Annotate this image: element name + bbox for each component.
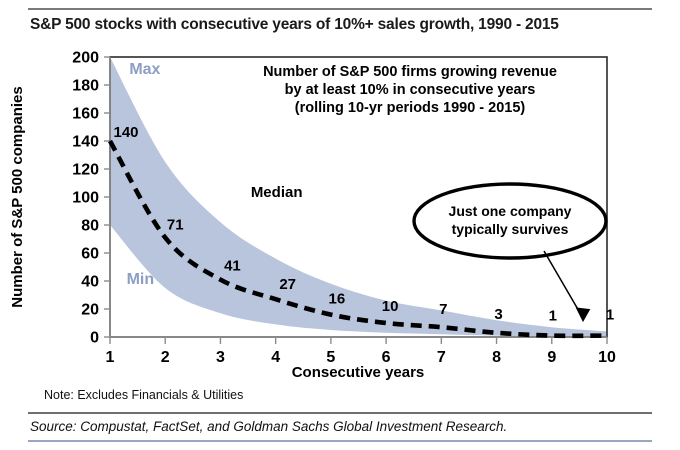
series-inplot-label-max: Max: [129, 61, 160, 78]
chart-page: S&P 500 stocks with consecutive years of…: [0, 0, 680, 450]
x-axis-tick-label: 1: [106, 349, 115, 366]
median-value-label: 10: [382, 298, 399, 315]
y-axis-tick-label: 200: [72, 50, 99, 67]
x-axis-title: Consecutive years: [292, 364, 425, 381]
x-axis-tick-label: 3: [216, 349, 225, 366]
x-axis-tick-label: 2: [161, 349, 170, 366]
median-value-label: 71: [167, 217, 184, 234]
median-value-label: 7: [439, 301, 447, 318]
y-axis-tick-label: 160: [72, 106, 99, 123]
annotation-line-2: by at least 10% in consecutive years: [285, 82, 536, 98]
callout-line-2: typically survives: [452, 221, 569, 237]
chart-note: Note: Excludes Financials & Utilities: [44, 388, 243, 402]
median-value-label: 27: [279, 276, 296, 293]
x-axis-tick-label: 8: [492, 349, 501, 366]
y-axis-tick-label: 60: [81, 246, 99, 263]
x-axis-tick-label: 7: [437, 349, 446, 366]
y-axis-tick-label: 40: [81, 274, 99, 291]
y-axis-tick-label: 20: [81, 302, 99, 319]
source-divider-bottom: [28, 440, 652, 442]
series-inplot-label-median: Median: [251, 184, 303, 201]
y-axis-tick-label: 0: [90, 330, 99, 347]
median-value-label: 3: [494, 306, 502, 323]
annotation-line-3: (rolling 10-yr periods 1990 - 2015): [295, 100, 526, 116]
x-axis-tick-label: 10: [598, 349, 616, 366]
y-axis-tick-label: 180: [72, 78, 99, 95]
callout-line-1: Just one company: [449, 203, 572, 219]
header-divider: [28, 8, 652, 10]
median-value-label: 140: [113, 124, 138, 141]
x-axis-tick-label: 9: [547, 349, 556, 366]
y-axis-tick-label: 100: [72, 190, 99, 207]
y-axis-title: Number of S&P 500 companies: [9, 86, 26, 307]
y-axis-tick-label: 140: [72, 134, 99, 151]
page-title: S&P 500 stocks with consecutive years of…: [30, 16, 660, 34]
chart-source: Source: Compustat, FactSet, and Goldman …: [30, 419, 507, 434]
sales-growth-chart: 020406080100120140160180200 12345678910 …: [0, 40, 680, 385]
y-axis: 020406080100120140160180200: [72, 50, 110, 347]
annotation-line-1: Number of S&P 500 firms growing revenue: [263, 64, 557, 80]
y-axis-tick-label: 80: [81, 218, 99, 235]
x-axis: 12345678910: [106, 337, 616, 366]
median-value-label: 1: [606, 307, 614, 324]
chart-annotation-block: Number of S&P 500 firms growing revenue …: [263, 64, 557, 116]
x-axis-tick-label: 4: [271, 349, 280, 366]
chart-container: 020406080100120140160180200 12345678910 …: [0, 40, 680, 385]
source-divider-top: [28, 412, 652, 414]
y-axis-tick-label: 120: [72, 162, 99, 179]
median-value-label: 1: [549, 308, 557, 325]
median-value-label: 41: [224, 258, 241, 275]
series-inplot-label-min: Min: [127, 271, 155, 288]
median-value-label: 16: [329, 291, 346, 308]
